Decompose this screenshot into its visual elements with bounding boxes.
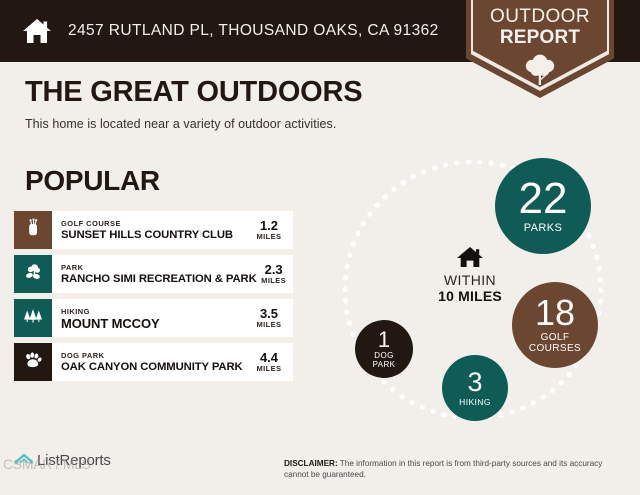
list-item-icon-tile xyxy=(14,299,52,337)
list-item-category: PARK xyxy=(61,263,257,273)
popular-heading: POPULAR xyxy=(25,165,160,197)
bubble-golf-courses[interactable]: 18 GOLF COURSES xyxy=(512,282,598,368)
badge-title: OUTDOOR REPORT xyxy=(466,6,614,48)
list-item-category: HIKING xyxy=(61,307,160,317)
page-title: THE GREAT OUTDOORS xyxy=(25,76,362,109)
list-item-distance: 3.5 MILES xyxy=(252,307,286,330)
bubble-parks[interactable]: 22 PARKS xyxy=(495,158,591,254)
list-item-distance-value: 4.4 xyxy=(252,351,286,364)
bubble-parks-value: 22 xyxy=(519,177,568,221)
list-item-name: RANCHO SIMI RECREATION & PARK xyxy=(61,273,257,286)
disclaimer-label: DISCLAIMER: xyxy=(284,459,338,468)
badge-title-line1: OUTDOOR xyxy=(490,6,590,27)
list-item-distance: 1.2 MILES xyxy=(252,219,286,242)
list-item-text: HIKING MOUNT MCCOY xyxy=(61,307,160,330)
bubble-hiking-value: 3 xyxy=(467,369,482,396)
list-item-icon-tile xyxy=(14,343,52,381)
listreports-logo-text: ListReports xyxy=(37,452,111,469)
center-label-line1: WITHIN xyxy=(425,272,515,288)
golf-bag-icon xyxy=(23,218,43,243)
bubble-dog-park[interactable]: 1 DOG PARK xyxy=(355,320,413,378)
list-item[interactable]: GOLF COURSE SUNSET HILLS COUNTRY CLUB 1.… xyxy=(14,211,293,249)
home-icon xyxy=(22,17,52,45)
center-label-line2: 10 MILES xyxy=(425,288,515,304)
bubble-parks-label: PARKS xyxy=(524,223,562,235)
paw-print-icon xyxy=(22,350,44,375)
bubble-dogpark-value: 1 xyxy=(378,329,390,351)
list-item-body: PARK RANCHO SIMI RECREATION & PARK 2.3 M… xyxy=(52,255,298,293)
list-item-distance: 4.4 MILES xyxy=(252,351,286,374)
list-item-distance-unit: MILES xyxy=(257,276,291,286)
listreports-logo[interactable]: ListReports xyxy=(14,452,111,469)
header-bar: 2457 RUTLAND PL, THOUSAND OAKS, CA 91362 xyxy=(0,0,452,62)
list-item-icon-tile xyxy=(14,211,52,249)
badge-title-line2: REPORT xyxy=(466,27,614,48)
list-item-name: SUNSET HILLS COUNTRY CLUB xyxy=(61,229,233,242)
house-outline-icon xyxy=(14,452,34,469)
list-item-distance: 2.3 MILES xyxy=(257,263,291,286)
list-item-name: MOUNT MCCOY xyxy=(61,317,160,330)
list-item-distance-value: 3.5 xyxy=(252,307,286,320)
list-item[interactable]: DOG PARK OAK CANYON COMMUNITY PARK 4.4 M… xyxy=(14,343,293,381)
home-icon xyxy=(425,245,515,269)
property-address: 2457 RUTLAND PL, THOUSAND OAKS, CA 91362 xyxy=(68,22,439,40)
bubble-hiking-label: HIKING xyxy=(459,398,491,407)
list-item-category: DOG PARK xyxy=(61,351,243,361)
outdoor-report-badge: OUTDOOR REPORT xyxy=(466,0,614,98)
list-item-distance-value: 2.3 xyxy=(257,263,291,276)
park-tree-icon xyxy=(22,262,44,287)
bubble-golf-label-line2: COURSES xyxy=(529,344,581,355)
within-10-miles-bubble-chart: 22 PARKS 18 GOLF COURSES 3 HIKING 1 DOG … xyxy=(330,150,630,440)
list-item-category: GOLF COURSE xyxy=(61,219,233,229)
list-item-distance-unit: MILES xyxy=(252,364,286,374)
disclaimer: DISCLAIMER: The information in this repo… xyxy=(284,458,614,480)
center-within-marker: WITHIN 10 MILES xyxy=(425,245,515,304)
list-item-distance-unit: MILES xyxy=(252,232,286,242)
popular-list: GOLF COURSE SUNSET HILLS COUNTRY CLUB 1.… xyxy=(14,211,293,387)
list-item-body: HIKING MOUNT MCCOY 3.5 MILES xyxy=(52,299,293,337)
list-item-text: GOLF COURSE SUNSET HILLS COUNTRY CLUB xyxy=(61,219,233,242)
bubble-hiking[interactable]: 3 HIKING xyxy=(442,355,508,421)
list-item-name: OAK CANYON COMMUNITY PARK xyxy=(61,361,243,374)
list-item-distance-unit: MILES xyxy=(252,320,286,330)
list-item-icon-tile xyxy=(14,255,52,293)
list-item-body: GOLF COURSE SUNSET HILLS COUNTRY CLUB 1.… xyxy=(52,211,293,249)
list-item[interactable]: PARK RANCHO SIMI RECREATION & PARK 2.3 M… xyxy=(14,255,293,293)
list-item-text: DOG PARK OAK CANYON COMMUNITY PARK xyxy=(61,351,243,374)
pine-trees-icon xyxy=(21,306,45,331)
tree-icon xyxy=(466,52,614,86)
list-item-distance-value: 1.2 xyxy=(252,219,286,232)
list-item-text: PARK RANCHO SIMI RECREATION & PARK xyxy=(61,263,257,286)
list-item-body: DOG PARK OAK CANYON COMMUNITY PARK 4.4 M… xyxy=(52,343,293,381)
outdoor-report-page: 2457 RUTLAND PL, THOUSAND OAKS, CA 91362… xyxy=(0,0,640,495)
bubble-golf-value: 18 xyxy=(535,295,575,331)
list-item[interactable]: HIKING MOUNT MCCOY 3.5 MILES xyxy=(14,299,293,337)
bubble-dogpark-label-line2: PARK xyxy=(373,361,396,370)
page-subtitle: This home is located near a variety of o… xyxy=(25,117,336,131)
